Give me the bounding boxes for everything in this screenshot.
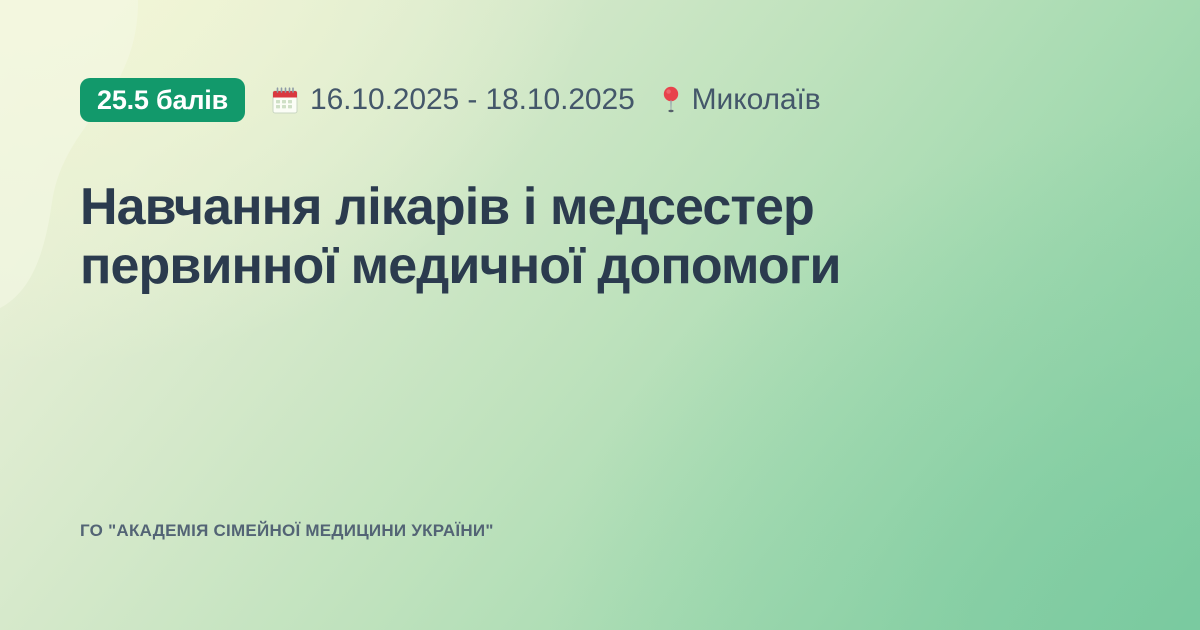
meta-row: 25.5 балів (80, 78, 821, 122)
organizer-name: ГО "АКАДЕМІЯ СІМЕЙНОЇ МЕДИЦИНИ УКРАЇНИ" (80, 522, 494, 539)
date-range: 16.10.2025 - 18.10.2025 (271, 85, 635, 115)
title-line-2: первинної медичної допомоги (80, 237, 841, 296)
points-badge: 25.5 балів (80, 78, 245, 122)
page-title: Навчання лікарів і медсестер первинної м… (80, 178, 841, 297)
location-city: Миколаїв (692, 85, 821, 115)
card-content: 25.5 балів (80, 0, 1120, 630)
title-line-1: Навчання лікарів і медсестер (80, 178, 841, 237)
location-pin-icon (661, 85, 681, 115)
calendar-icon (271, 85, 299, 115)
location: Миколаїв (661, 85, 821, 115)
event-banner-card: 25.5 балів (0, 0, 1200, 630)
date-range-text: 16.10.2025 - 18.10.2025 (310, 85, 635, 115)
